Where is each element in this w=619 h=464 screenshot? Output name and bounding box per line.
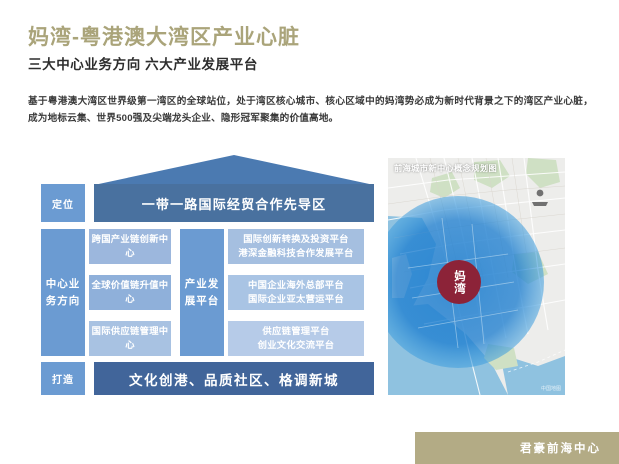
footer-brand: 君豪前海中心 [520, 440, 601, 456]
tag-positioning: 定位 [41, 184, 85, 222]
cell-industry-platform-1: 国际创新转换及投资平台港深金融科技合作发展平台 [228, 229, 364, 264]
map-location-badge: 妈湾 [437, 260, 481, 304]
cell-industry-platform-2: 中国企业海外总部平台国际企业亚太营运平台 [228, 275, 364, 310]
column-header-industry-platform: 产业发展平台 [180, 229, 224, 356]
tag-build: 打造 [41, 362, 85, 395]
roof-shape [94, 155, 374, 185]
page-title: 妈湾-粤港澳大湾区产业心脏 [28, 26, 300, 49]
concept-plan-map: 前海城市新中心概念规划图 妈湾 中国地图 [388, 158, 565, 395]
cell-center-business-2: 全球价值链升值中心 [89, 275, 171, 310]
banner-build: 文化创港、品质社区、格调新城 [94, 362, 374, 395]
cell-center-business-1: 跨国产业链创新中心 [89, 229, 171, 264]
page-subtitle: 三大中心业务方向 六大产业发展平台 [28, 58, 258, 73]
column-header-center-business: 中心业务方向 [41, 229, 85, 356]
cell-center-business-3: 国际供应链管理中心 [89, 321, 171, 356]
slide-canvas: 妈湾-粤港澳大湾区产业心脏 三大中心业务方向 六大产业发展平台 基于粤港澳大湾区… [0, 0, 619, 464]
map-location-label: 妈湾 [453, 270, 465, 295]
intro-paragraph: 基于粤港澳大湾区世界级第一湾区的全球站位，处于湾区核心城市、核心区域中的妈湾势必… [28, 94, 593, 128]
map-credit: 中国地图 [541, 385, 561, 392]
banner-positioning: 一带一路国际经贸合作先导区 [94, 184, 374, 222]
cell-industry-platform-3: 供应链管理平台创业文化交流平台 [228, 321, 364, 356]
strategy-diagram: 定位 一带一路国际经贸合作先导区 中心业务方向 产业发展平台 跨国产业链创新中心… [8, 155, 374, 405]
